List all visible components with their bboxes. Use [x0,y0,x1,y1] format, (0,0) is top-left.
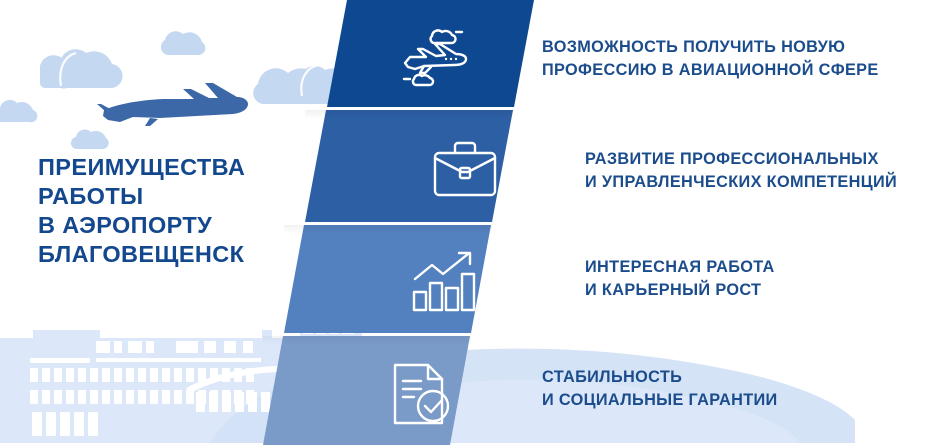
benefit-1-line-2: ПРОФЕССИЮ В АВИАЦИОННОЙ СФЕРЕ [542,59,879,82]
benefit-4-line-2: И СОЦИАЛЬНЫЕ ГАРАНТИИ [542,389,778,412]
benefit-4-line-1: СТАБИЛЬНОСТЬ [542,366,778,389]
benefit-caption-1: ВОЗМОЖНОСТЬ ПОЛУЧИТЬ НОВУЮ ПРОФЕССИЮ В А… [542,36,879,82]
band-4-top-shadow [263,336,471,345]
benefit-2-line-2: И УПРАВЛЕНЧЕСКИХ КОМПЕТЕНЦИЙ [585,171,897,194]
benefit-band-4[interactable] [263,336,470,445]
benefit-3-line-1: ИНТЕРЕСНАЯ РАБОТА [585,256,775,279]
benefit-2-line-1: РАЗВИТИЕ ПРОФЕССИОНАЛЬНЫХ [585,148,897,171]
band-2-top-shadow [305,110,513,119]
benefit-band-3[interactable] [284,225,491,333]
infographic-canvas: ПРЕИМУЩЕСТВА РАБОТЫ В АЭРОПОРТУ БЛАГОВЕЩ… [0,0,930,445]
band-3-top-shadow [284,225,492,234]
benefit-caption-2: РАЗВИТИЕ ПРОФЕССИОНАЛЬНЫХ И УПРАВЛЕНЧЕСК… [585,148,897,194]
benefit-1-line-1: ВОЗМОЖНОСТЬ ПОЛУЧИТЬ НОВУЮ [542,36,879,59]
benefit-caption-3: ИНТЕРЕСНАЯ РАБОТА И КАРЬЕРНЫЙ РОСТ [585,256,775,302]
benefit-3-line-2: И КАРЬЕРНЫЙ РОСТ [585,279,775,302]
benefit-caption-4: СТАБИЛЬНОСТЬ И СОЦИАЛЬНЫЕ ГАРАНТИИ [542,366,778,412]
